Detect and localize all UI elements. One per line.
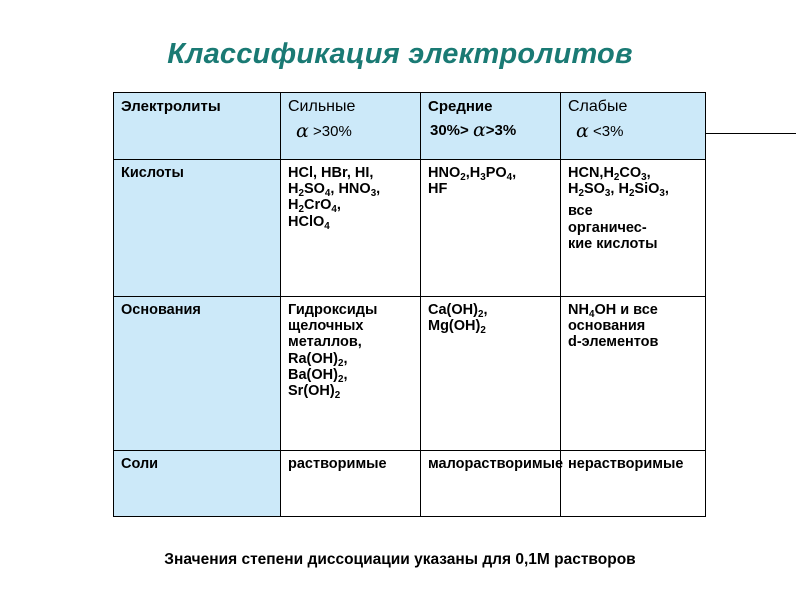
cell-r1-c2: HNO2,H3PO4,HF [421,160,561,297]
cell-line: HCN,H2CO3, [568,165,699,181]
header-column-name: Сильные [288,98,414,116]
cell-line: HClO4 [288,214,414,230]
table-row: КислотыHCl, HBr, HI,H2SO4, HNO3,H2CrO4,H… [114,160,706,297]
cell-line: Sr(OH)2 [288,383,414,399]
subscript: 2 [335,390,340,401]
table-row: Солирастворимыемалорастворимыенераствори… [114,451,706,517]
cell-line: HNO2,H3PO4, [428,165,554,181]
cell-line: щелочных [288,318,414,334]
header-side-rule [705,133,796,134]
subscript: 3 [480,172,485,183]
alpha-symbol: α [296,120,309,142]
header-alpha-range: α >30% [288,121,414,142]
header-column-name: Средние [428,98,554,115]
cell-line: кие кислоты [568,236,699,252]
cell-line: Гидроксиды [288,302,414,318]
cell-r3-c2: малорастворимые [421,451,561,517]
cell-line: Ra(OH)2, [288,351,414,367]
header-cell-3: Слабыеα <3% [561,93,706,160]
cell-r1-c3: HCN,H2CO3,H2SO3, H2SiO3,всеорганичес-кие… [561,160,706,297]
subscript: 3 [659,188,664,199]
cell-r1-c1: HCl, HBr, HI,H2SO4, HNO3,H2CrO4,HClO4 [281,160,421,297]
header-corner-label: Электролиты [121,98,221,115]
subscript: 4 [507,172,512,183]
subscript: 2 [460,172,465,183]
cell-line: NH4OH и все [568,302,699,318]
cell-line: нерастворимые [568,456,699,472]
footnote-caption: Значения степени диссоциации указаны для… [0,551,800,569]
cell-line: все [568,203,699,219]
cell-r2-c3: NH4OH и всеоснованияd-элементов [561,297,706,451]
cell-line: H2CrO4, [288,197,414,213]
header-alpha-range: α <3% [568,121,699,142]
cell-line: HCl, HBr, HI, [288,165,414,181]
cell-line: растворимые [288,456,414,472]
row-label-1: Кислоты [114,160,281,297]
subscript: 3 [605,188,610,199]
cell-r3-c1: растворимые [281,451,421,517]
row-label-3: Соли [114,451,281,517]
header-cell-1: Сильныеα >30% [281,93,421,160]
cell-r2-c1: Гидроксидыщелочныхметаллов,Ra(OH)2,Ba(OH… [281,297,421,451]
header-column-name: Слабые [568,98,699,116]
table-header-row: ЭлектролитыСильныеα >30%Средние30%> α>3%… [114,93,706,160]
cell-line: H2SO4, HNO3, [288,181,414,197]
cell-line: малорастворимые [428,456,554,472]
alpha-symbol: α [576,120,589,142]
cell-line: металлов, [288,334,414,350]
cell-r2-c2: Ca(OH)2,Mg(OH)2 [421,297,561,451]
cell-line: Mg(OH)2 [428,318,554,334]
cell-line: Ca(OH)2, [428,302,554,318]
cell-line: органичес- [568,220,699,236]
cell-r3-c3: нерастворимые [561,451,706,517]
subscript: 4 [331,204,336,215]
subscript: 2 [578,188,583,199]
table-row: ОснованияГидроксидыщелочныхметаллов,Ra(O… [114,297,706,451]
header-cell-2: Средние30%> α>3% [421,93,561,160]
cell-line: HF [428,181,554,197]
electrolyte-classification-table: ЭлектролитыСильныеα >30%Средние30%> α>3%… [113,92,706,517]
table-body: ЭлектролитыСильныеα >30%Средние30%> α>3%… [114,93,706,517]
slide-canvas: Классификация электролитов ЭлектролитыСи… [0,0,800,600]
subscript: 2 [629,188,634,199]
header-alpha-range: 30%> α>3% [428,120,554,141]
header-corner-cell: Электролиты [114,93,281,160]
subscript: 2 [480,325,485,336]
cell-line: H2SO3, H2SiO3, [568,181,699,197]
page-title: Классификация электролитов [0,38,800,71]
cell-line: Ba(OH)2, [288,367,414,383]
cell-line: d-элементов [568,334,699,350]
subscript: 3 [371,188,376,199]
row-label-2: Основания [114,297,281,451]
cell-line: основания [568,318,699,334]
alpha-symbol: α [473,119,486,141]
subscript: 4 [324,220,329,231]
